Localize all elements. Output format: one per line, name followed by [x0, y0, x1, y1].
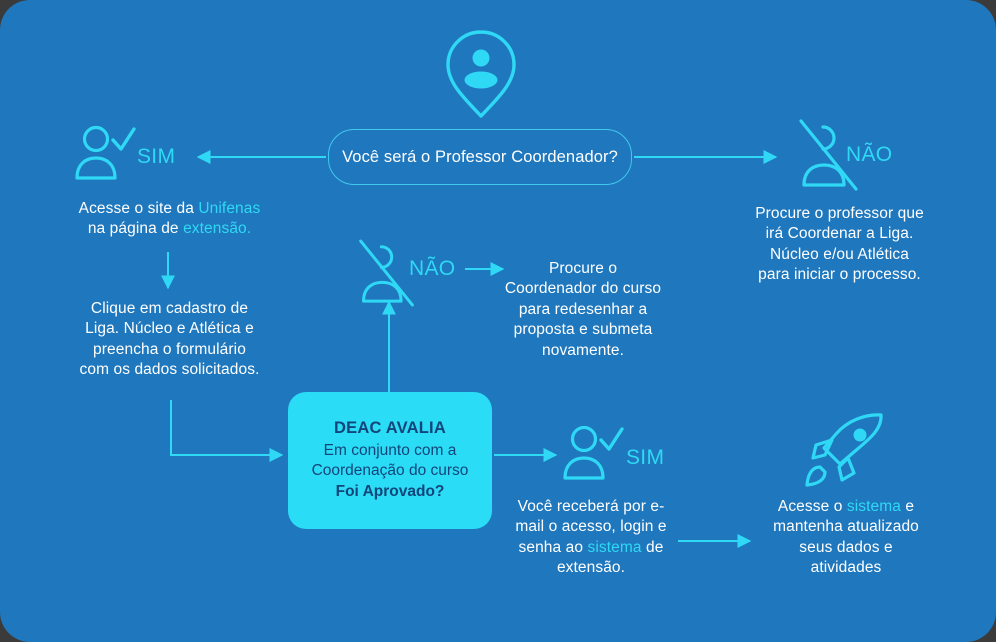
final-line1c: e	[901, 498, 914, 515]
deac-title: DEAC AVALIA	[334, 418, 446, 440]
mid-yes-line1: Você receberá por e-	[498, 497, 684, 517]
left-step2-line4: com os dados solicitados.	[52, 360, 287, 380]
right-branch-label: NÃO	[846, 143, 892, 167]
mid-yes-line3a: senha ao	[519, 539, 588, 556]
right-line3: Núcleo e/ou Atlética	[722, 245, 957, 265]
left-branch-label: SIM	[137, 145, 175, 169]
flowchart-canvas: Você será o Professor Coordenador? SIM A…	[0, 0, 996, 642]
mid-no-line5: novamente.	[494, 341, 672, 361]
left-step2-line3: preencha o formulário	[52, 340, 287, 360]
mid-yes-highlight-sistema: sistema	[588, 539, 642, 556]
mid-yes-label: SIM	[626, 446, 664, 470]
mid-no-line3: para redesenhar a	[494, 300, 672, 320]
rocket-icon	[802, 410, 890, 494]
left-step1-line2a: na página de	[88, 220, 183, 237]
final-line2: mantenha atualizado	[748, 517, 944, 537]
final-line1a: Acesse o	[778, 498, 847, 515]
mid-yes-line2: mail o acesso, login e	[498, 517, 684, 537]
left-step2-line1: Clique em cadastro de	[52, 299, 287, 319]
final-line3: seus dados e	[748, 538, 944, 558]
mid-no-line1: Procure o	[494, 259, 672, 279]
final-text: Acesse o sistema e mantenha atualizado s…	[748, 497, 944, 579]
user-check-icon	[74, 124, 136, 182]
right-line1: Procure o professor que	[722, 204, 957, 224]
mid-no-line2: Coordenador do curso	[494, 279, 672, 299]
left-step1-highlight-extensao: extensão.	[183, 220, 251, 237]
connector-step2-to-deac	[171, 400, 282, 455]
left-step1-text: Acesse o site da Unifenas na página de e…	[52, 199, 287, 240]
question-box[interactable]: Você será o Professor Coordenador?	[328, 129, 632, 185]
deac-line2: Coordenação do curso	[312, 461, 469, 481]
mid-no-label: NÃO	[409, 257, 455, 281]
left-step1-line1a: Acesse o site da	[79, 200, 199, 217]
left-step2-line2: Liga. Núcleo e Atlética e	[52, 319, 287, 339]
deac-line1: Em conjunto com a	[324, 441, 457, 461]
right-branch-text: Procure o professor que irá Coordenar a …	[722, 204, 957, 286]
mid-yes-text: Você receberá por e- mail o acesso, logi…	[498, 497, 684, 579]
mid-yes-line3c: de	[642, 539, 664, 556]
deac-question: Foi Aprovado?	[336, 482, 445, 502]
mid-no-line4: proposta e submeta	[494, 320, 672, 340]
right-line2: irá Coordenar a Liga.	[722, 224, 957, 244]
mid-no-text: Procure o Coordenador do curso para rede…	[494, 259, 672, 361]
final-line4: atividades	[748, 558, 944, 578]
left-step2-text: Clique em cadastro de Liga. Núcleo e Atl…	[52, 299, 287, 381]
user-check-icon-mid	[562, 424, 624, 482]
deac-avalia-box[interactable]: DEAC AVALIA Em conjunto com a Coordenaçã…	[288, 392, 492, 529]
map-pin-person-icon	[444, 28, 518, 120]
question-text: Você será o Professor Coordenador?	[342, 148, 618, 167]
right-line4: para iniciar o processo.	[722, 265, 957, 285]
final-highlight-sistema: sistema	[847, 498, 901, 515]
left-step1-highlight-unifenas: Unifenas	[198, 200, 260, 217]
mid-yes-line4: extensão.	[498, 558, 684, 578]
